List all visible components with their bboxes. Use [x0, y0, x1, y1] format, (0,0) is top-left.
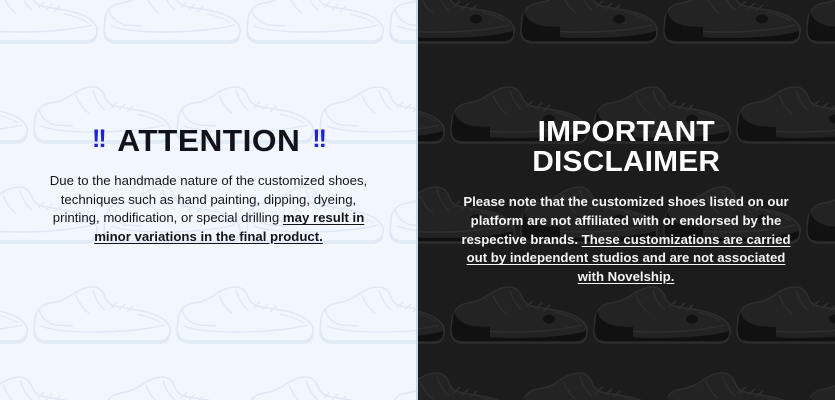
disclaimer-body: Please note that the customized shoes li…	[461, 193, 791, 287]
customization-notice-banner: !! ATTENTION !! Due to the handmade natu…	[0, 0, 835, 400]
double-exclamation-left-icon: !!	[92, 127, 105, 152]
disclaimer-panel: IMPORTANT DISCLAIMER Please note that th…	[417, 0, 835, 400]
disclaimer-headline: IMPORTANT DISCLAIMER	[535, 118, 717, 177]
attention-body: Due to the handmade nature of the custom…	[50, 172, 368, 247]
double-exclamation-right-icon: !!	[312, 127, 325, 152]
attention-headline-row: !! ATTENTION !!	[92, 125, 325, 156]
disclaimer-headline-line-2: DISCLAIMER	[532, 148, 720, 178]
panel-divider	[416, 0, 418, 400]
attention-headline: ATTENTION	[117, 125, 300, 156]
attention-panel: !! ATTENTION !! Due to the handmade natu…	[0, 0, 417, 400]
disclaimer-headline-line-1: IMPORTANT	[532, 118, 720, 148]
